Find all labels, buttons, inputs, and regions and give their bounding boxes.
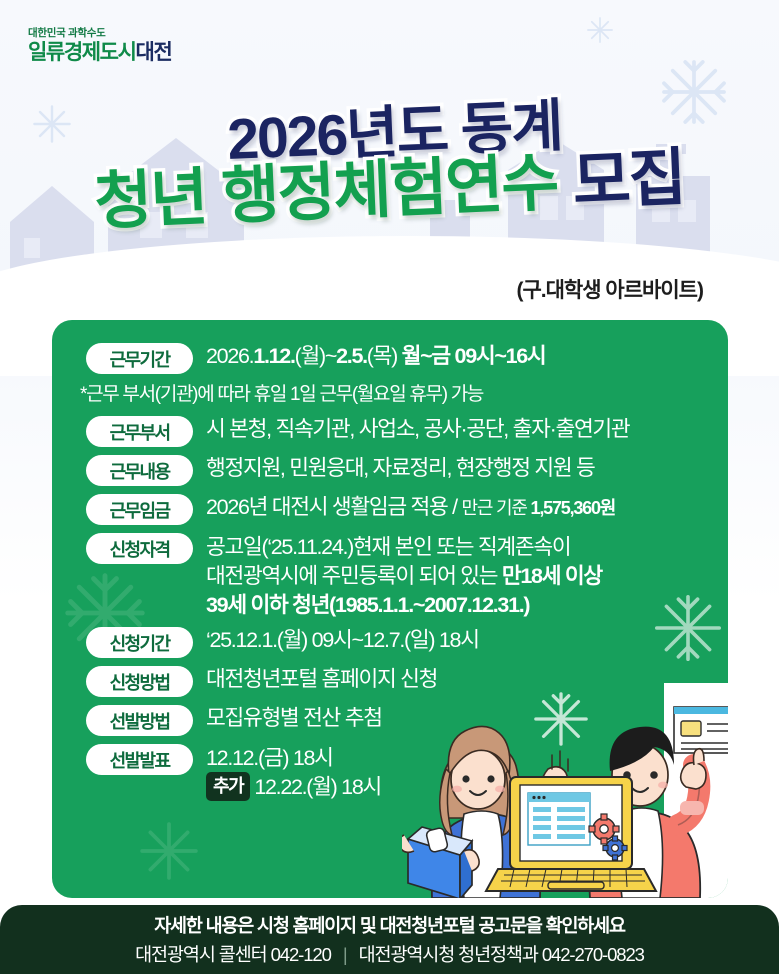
- footer-notice: 자세한 내용은 시청 홈페이지 및 대전청년포털 공고문을 확인하세요: [154, 912, 625, 938]
- row-note-geunmu-gigan: *근무 부서(기관)에 따라 휴일 1일 근무(월요일 휴무) 가능: [52, 379, 728, 406]
- department-number: 042-270-0823: [542, 944, 644, 965]
- row-value: 모집유형별 전산 추첨: [206, 704, 382, 733]
- info-row-geunmu-imgeum: 근무임금 2026년 대전시 생활임금 적용 / 만근 기준 1,575,360…: [52, 493, 728, 525]
- logo-wordmark-green: 일류경제도시: [28, 41, 136, 64]
- row-label: 선발방법: [86, 705, 193, 736]
- info-panel: 근무기간 2026.1.12.(월)~2.5.(목) 월~금 09시~16시 *…: [52, 320, 728, 898]
- row-label: 근무임금: [86, 494, 193, 525]
- row-label: 신청방법: [86, 666, 193, 697]
- row-value: 시 본청, 직속기관, 사업소, 공사·공단, 출자·출연기관: [206, 415, 629, 444]
- row-value: 2026년 대전시 생활임금 적용 / 만근 기준 1,575,360원: [206, 493, 615, 522]
- laptop-icon: [486, 777, 656, 891]
- row-label: 선발발표: [86, 744, 193, 775]
- info-row-geunmu-naeyong: 근무내용 행정지원, 민원응대, 자료정리, 현장행정 지원 등: [52, 454, 728, 486]
- footer-separator: |: [343, 944, 347, 965]
- info-row-sincheong-gigan: 신청기간 ‘25.12.1.(월) 09시~12.7.(일) 18시: [52, 626, 728, 658]
- title-subtitle: (구.대학생 아르바이트): [516, 274, 703, 304]
- department-label: 대전광역시청 청년정책과: [359, 944, 538, 965]
- callcenter-label: 대전광역시 콜센터: [135, 944, 266, 965]
- logo-wordmark-navy: 대전: [136, 41, 172, 64]
- poster-footer: 자세한 내용은 시청 홈페이지 및 대전청년포털 공고문을 확인하세요 대전광역…: [0, 905, 779, 974]
- row-value: 공고일(‘25.11.24.)현재 본인 또는 직계존속이대전광역시에 주민등록…: [206, 532, 602, 619]
- row-value: 2026.1.12.(월)~2.5.(목) 월~금 09시~16시: [206, 342, 545, 371]
- logo-wordmark: 일류경제도시대전: [28, 42, 171, 63]
- info-row-sincheong-jagyeok: 신청자격 공고일(‘25.11.24.)현재 본인 또는 직계존속이대전광역시에…: [52, 532, 728, 619]
- document-panel-icon: [674, 707, 728, 753]
- logo-superscript: 대한민국 과학수도: [28, 28, 171, 39]
- dajeon-city-logo: 대한민국 과학수도 일류경제도시대전: [28, 28, 171, 63]
- youth-illustration: [402, 683, 728, 898]
- row-value: ‘25.12.1.(월) 09시~12.7.(일) 18시: [206, 626, 479, 655]
- info-row-geunmu-gigan: 근무기간 2026.1.12.(월)~2.5.(목) 월~금 09시~16시: [52, 342, 728, 374]
- row-label: 근무부서: [86, 416, 193, 447]
- footer-contacts: 대전광역시 콜센터 042-120 | 대전광역시청 청년정책과 042-270…: [135, 941, 644, 967]
- row-label: 근무내용: [86, 455, 193, 486]
- title-line-2-navy: 모집: [571, 143, 686, 218]
- poster-canvas: 대한민국 과학수도 일류경제도시대전 2026년도 동계 청년 행정체험연수 모…: [0, 0, 779, 974]
- row-label: 신청자격: [86, 533, 193, 564]
- row-label: 신청기간: [86, 627, 193, 658]
- poster-title: 2026년도 동계 청년 행정체험연수 모집: [0, 104, 779, 222]
- snowflake-icon: [138, 820, 200, 882]
- row-label: 근무기간: [86, 343, 193, 374]
- row-value: 행정지원, 민원응대, 자료정리, 현장행정 지원 등: [206, 454, 595, 483]
- callcenter-number: 042-120: [271, 944, 331, 965]
- info-row-geunmu-buseo: 근무부서 시 본청, 직속기관, 사업소, 공사·공단, 출자·출연기관: [52, 415, 728, 447]
- row-value: 12.12.(금) 18시추가12.22.(월) 18시: [206, 743, 381, 803]
